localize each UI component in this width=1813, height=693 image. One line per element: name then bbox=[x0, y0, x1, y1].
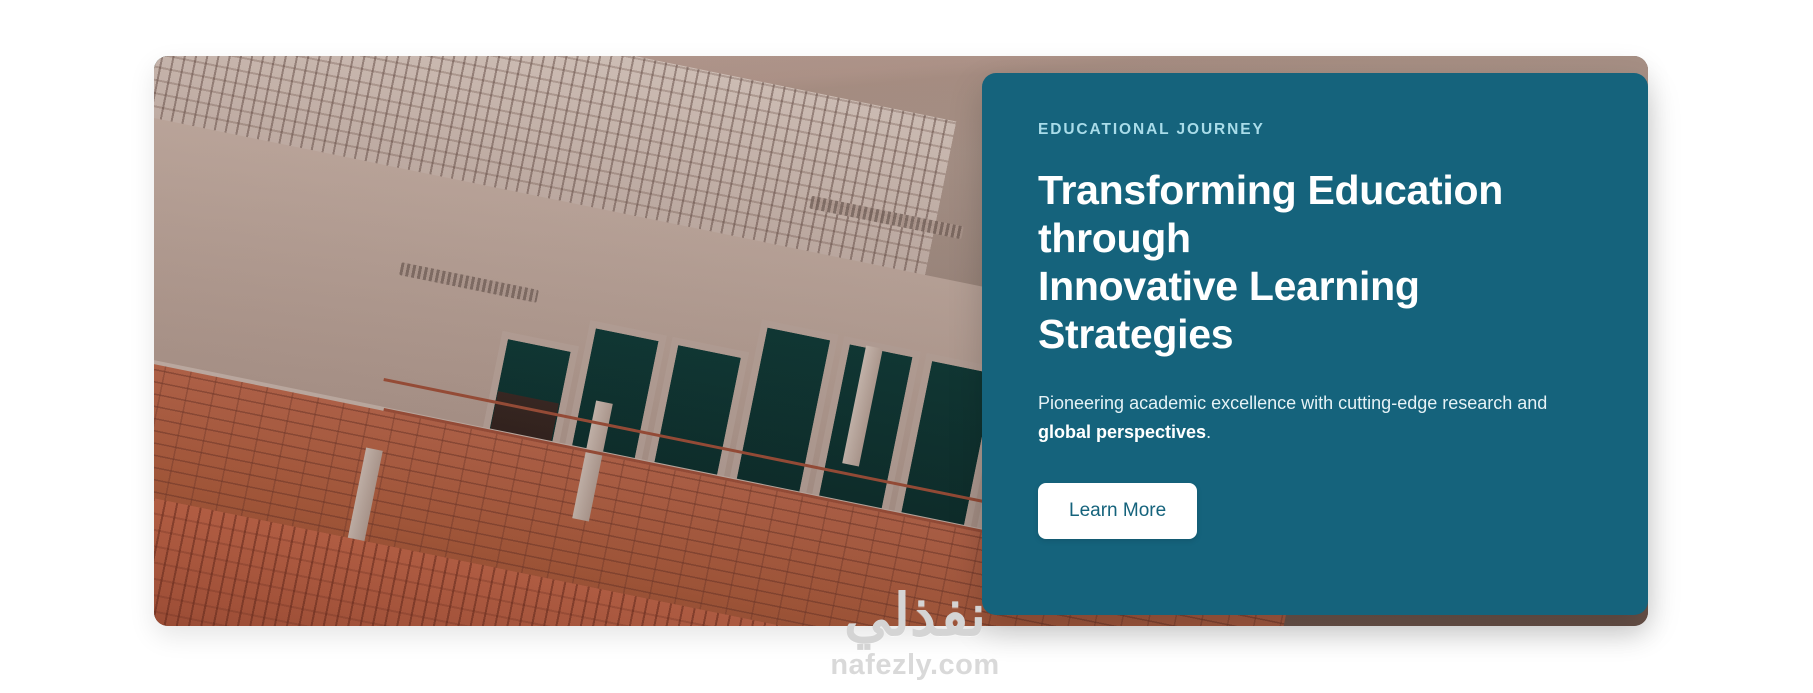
page-title: Transforming Education through Innovativ… bbox=[1038, 167, 1592, 359]
subcopy-lead: Pioneering academic excellence with cutt… bbox=[1038, 393, 1547, 413]
hero-content-panel: EDUCATIONAL JOURNEY Transforming Educati… bbox=[982, 73, 1648, 615]
hero-subcopy: Pioneering academic excellence with cutt… bbox=[1038, 389, 1583, 447]
eyebrow-label: EDUCATIONAL JOURNEY bbox=[1038, 121, 1592, 139]
subcopy-tail: . bbox=[1206, 422, 1211, 442]
hero-banner: EDUCATIONAL JOURNEY Transforming Educati… bbox=[0, 0, 1813, 693]
subcopy-emphasis: global perspectives bbox=[1038, 422, 1206, 442]
watermark-domain-text: nafezly.com bbox=[800, 649, 1030, 682]
learn-more-button[interactable]: Learn More bbox=[1038, 483, 1197, 539]
